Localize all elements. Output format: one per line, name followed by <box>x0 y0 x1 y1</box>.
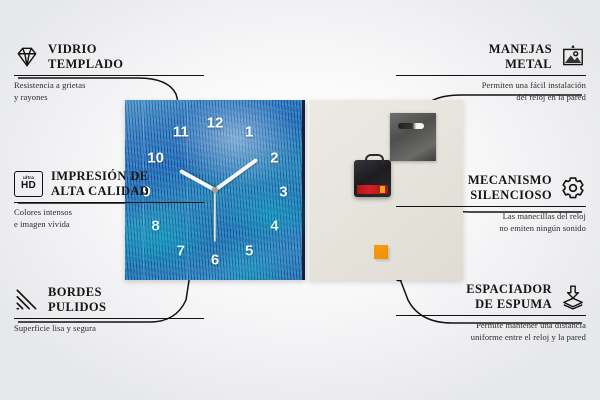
callout-title-line1: MANEJAS <box>489 42 552 57</box>
callout-title-line1: IMPRESIÓN DE <box>51 169 149 184</box>
callout-rule <box>396 75 586 77</box>
callout-subtitle: Colores intensos e imagen vívida <box>14 207 204 230</box>
callout-subtitle-line2: del reloj en la pared <box>396 92 586 103</box>
clock-numeral-4: 4 <box>270 219 278 234</box>
callout-subtitle-line2: no emiten ningún sonido <box>396 223 586 234</box>
hanger-slot <box>398 123 424 129</box>
infographic-canvas: 12 1 2 3 4 5 6 7 8 9 10 11 <box>0 0 600 400</box>
clock-minute-hand <box>214 158 258 192</box>
callout-subtitle-line2: e imagen vívida <box>14 219 204 230</box>
quartz-movement <box>354 160 391 197</box>
movement-battery-label <box>357 185 388 194</box>
callout-title: BORDES PULIDOS <box>48 285 106 315</box>
callout-title: MECANISMO SILENCIOSO <box>468 173 552 203</box>
framed-picture-icon <box>560 44 586 70</box>
callout-espaciador-de-espuma[interactable]: ESPACIADOR DE ESPUMA Permite mantener un… <box>396 282 586 343</box>
clock-numeral-2: 2 <box>270 150 278 165</box>
callout-bordes-pulidos[interactable]: BORDES PULIDOS Superficie lisa y segura <box>14 285 204 335</box>
callout-title-line1: BORDES <box>48 285 106 300</box>
callout-vidrio-templado[interactable]: VIDRIO TEMPLADO Resistencia a grietas y … <box>14 42 204 103</box>
callout-title-line2: METAL <box>489 57 552 72</box>
callout-header: MANEJAS METAL <box>396 42 586 72</box>
callout-title-line2: SILENCIOSO <box>468 188 552 203</box>
callout-title-line2: ALTA CALIDAD <box>51 184 149 199</box>
callout-title-line2: TEMPLADO <box>48 57 123 72</box>
callout-header: VIDRIO TEMPLADO <box>14 42 204 72</box>
callout-header: MECANISMO SILENCIOSO <box>396 173 586 203</box>
callout-subtitle: Permite mantener una distancia uniforme … <box>396 320 586 343</box>
clock-numeral-10: 10 <box>147 150 164 165</box>
callout-header: ESPACIADOR DE ESPUMA <box>396 282 586 312</box>
callout-title: IMPRESIÓN DE ALTA CALIDAD <box>51 169 149 199</box>
callout-title: VIDRIO TEMPLADO <box>48 42 123 72</box>
clock-second-hand <box>214 190 216 242</box>
foam-spacer-icon <box>560 284 586 310</box>
callout-subtitle: Permiten una fácil instalación del reloj… <box>396 80 586 103</box>
ultra-hd-icon: ultra HD <box>14 171 43 197</box>
clock-numeral-3: 3 <box>279 184 287 199</box>
callout-title-line2: DE ESPUMA <box>466 297 552 312</box>
callout-subtitle: Superficie lisa y segura <box>14 323 204 334</box>
callout-subtitle-line1: Superficie lisa y segura <box>14 323 204 334</box>
callout-header: ultra HD IMPRESIÓN DE ALTA CALIDAD <box>14 169 204 199</box>
metal-hanger-plate <box>390 113 436 161</box>
callout-subtitle-line1: Resistencia a grietas <box>14 80 204 91</box>
callout-title-line2: PULIDOS <box>48 300 106 315</box>
clock-numeral-5: 5 <box>245 244 253 259</box>
callout-rule <box>14 202 204 204</box>
clock-center-cap <box>212 187 218 193</box>
callout-subtitle: Las manecillas del reloj no emiten ningú… <box>396 211 586 234</box>
clock-numeral-7: 7 <box>177 244 185 259</box>
callout-title: ESPACIADOR DE ESPUMA <box>466 282 552 312</box>
movement-hanging-loop <box>365 154 384 164</box>
callout-rule <box>14 75 204 77</box>
callout-subtitle-line1: Las manecillas del reloj <box>396 211 586 222</box>
diagonal-lines-icon <box>14 287 40 313</box>
callout-subtitle: Resistencia a grietas y rayones <box>14 80 204 103</box>
callout-rule <box>396 315 586 317</box>
clock-numeral-1: 1 <box>245 125 253 140</box>
callout-manejas-metal[interactable]: MANEJAS METAL Permiten una fácil instala… <box>396 42 586 103</box>
callout-subtitle-line1: Permite mantener una distancia <box>396 320 586 331</box>
foam-spacer-pad <box>374 245 388 259</box>
clock-numeral-6: 6 <box>211 253 219 268</box>
callout-subtitle-line2: y rayones <box>14 92 204 103</box>
gear-icon <box>560 175 586 201</box>
ultra-hd-icon-main-label: HD <box>21 181 36 191</box>
clock-numeral-11: 11 <box>173 125 189 140</box>
callout-title-line1: ESPACIADOR <box>466 282 552 297</box>
callout-title: MANEJAS METAL <box>489 42 552 72</box>
callout-subtitle-line1: Colores intensos <box>14 207 204 218</box>
callout-impresion-alta-calidad[interactable]: ultra HD IMPRESIÓN DE ALTA CALIDAD Color… <box>14 169 204 230</box>
callout-rule <box>14 318 204 320</box>
callout-subtitle-line2: uniforme entre el reloj y la pared <box>396 332 586 343</box>
callout-subtitle-line1: Permiten una fácil instalación <box>396 80 586 91</box>
diamond-icon <box>14 44 40 70</box>
callout-rule <box>396 206 586 208</box>
callout-mecanismo-silencioso[interactable]: MECANISMO SILENCIOSO Las manecillas del … <box>396 173 586 234</box>
callout-title-line1: MECANISMO <box>468 173 552 188</box>
callout-title-line1: VIDRIO <box>48 42 123 57</box>
callout-header: BORDES PULIDOS <box>14 285 204 315</box>
clock-numeral-12: 12 <box>207 116 224 131</box>
